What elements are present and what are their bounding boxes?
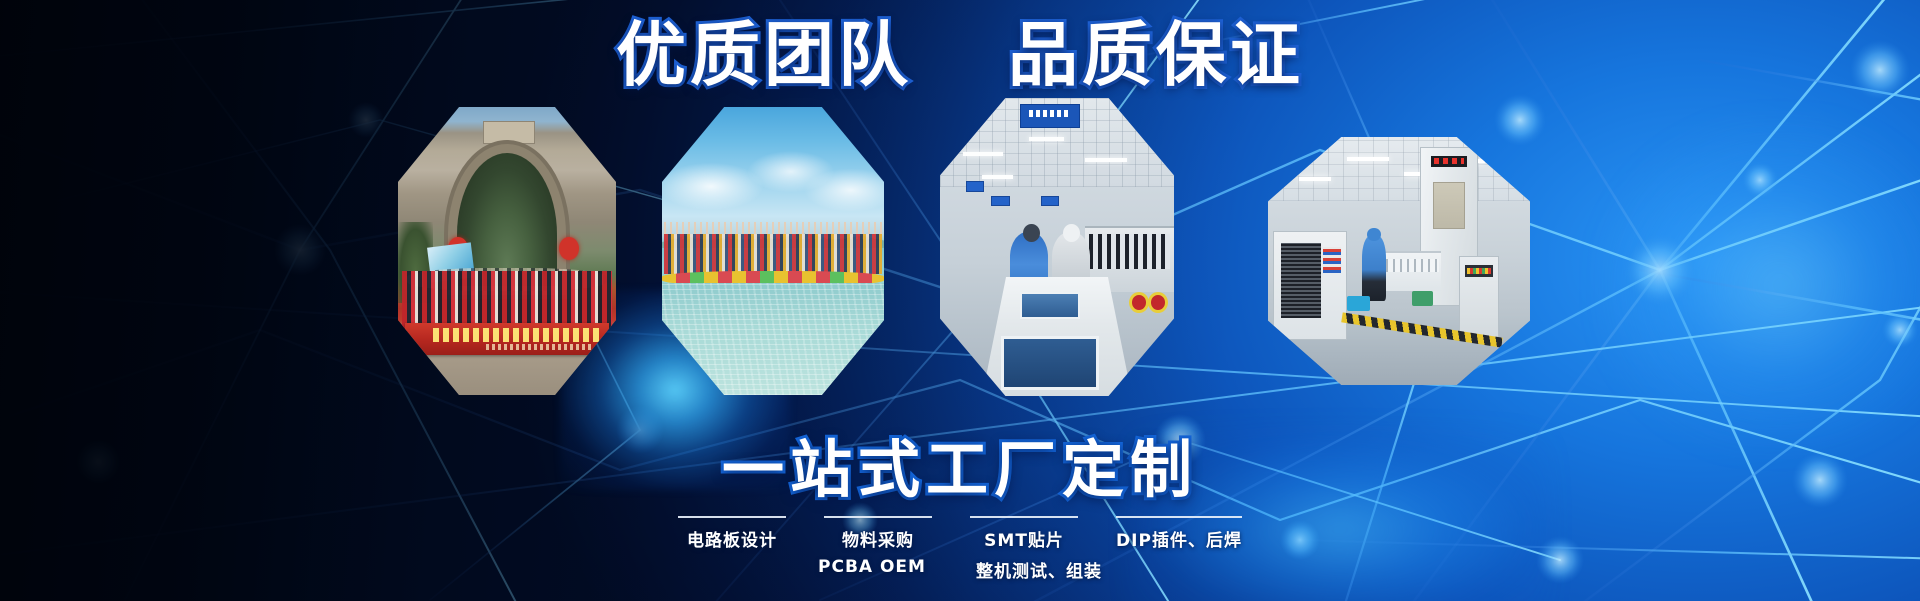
ceiling-lamp — [963, 152, 1003, 156]
workshop-equipment-photo — [1268, 137, 1530, 385]
service-item-dip: DIP插件、后焊 — [1108, 516, 1250, 551]
cabinet-display — [1431, 156, 1467, 167]
breaker-panel — [1323, 247, 1342, 273]
kayakers-row — [664, 234, 882, 274]
service-label: DIP插件、后焊 — [1116, 526, 1242, 551]
red-banner — [405, 323, 610, 355]
team-outing-photo — [398, 107, 616, 395]
emergency-stop-button — [1132, 295, 1146, 310]
ground — [398, 355, 616, 395]
service-row-1: 电路板设计 物料采购 SMT贴片 DIP插件、后焊 — [670, 516, 1250, 551]
service-item-assembly-test: 整机测试、组装 — [968, 555, 1110, 582]
sea-water — [662, 283, 884, 395]
divider-line — [1116, 516, 1242, 518]
banner-main-text — [433, 328, 599, 342]
divider-line — [824, 516, 932, 518]
emergency-stop-button — [1151, 295, 1165, 310]
banner-sub-text — [486, 344, 593, 350]
service-label: 电路板设计 — [687, 526, 777, 551]
station-sign — [1041, 196, 1060, 206]
service-list: 电路板设计 物料采购 SMT贴片 DIP插件、后焊 PCBA OEM 整机测试、… — [0, 516, 1920, 582]
ceiling-lamp — [1029, 137, 1064, 141]
service-label: PCBA OEM — [818, 557, 926, 577]
main-headline: 一站式工厂定制 — [722, 437, 1198, 502]
work-bench — [1383, 251, 1441, 291]
service-label: 物料采购 — [842, 526, 914, 551]
pcb-tray — [1001, 336, 1099, 390]
clouds — [662, 142, 884, 217]
equipment-rack-left — [1273, 231, 1346, 340]
main-headline-wrap: 一站式工厂定制 — [0, 437, 1920, 502]
control-cabinet — [1459, 256, 1498, 340]
blue-bin — [1347, 296, 1371, 311]
gate-plaque — [483, 121, 535, 144]
service-row-2: PCBA OEM 整机测试、组装 — [810, 555, 1110, 582]
station-sign-pingyiji — [1020, 104, 1081, 128]
service-label: 整机测试、组装 — [976, 557, 1102, 582]
ceiling-lamp — [1085, 158, 1127, 162]
rack-grill — [1281, 243, 1321, 318]
control-panel — [1465, 265, 1493, 277]
service-item-material-purchase: 物料采购 — [816, 516, 940, 551]
cabinet-door — [1433, 182, 1465, 229]
service-label: SMT贴片 — [984, 526, 1064, 551]
ceiling-lamp — [1299, 177, 1330, 181]
station-sign — [991, 196, 1010, 206]
divider-line — [970, 516, 1078, 518]
headline-quality-assurance: 品质保证 — [1008, 18, 1304, 94]
ceiling-grid — [1268, 137, 1530, 201]
top-headline-row: 优质团队 品质保证 — [0, 18, 1920, 94]
station-sign — [966, 181, 985, 191]
headline-quality-team: 优质团队 — [616, 18, 912, 94]
inspection-screen — [1020, 292, 1081, 319]
service-item-pcb-design: 电路板设计 — [670, 516, 794, 551]
ceiling-lamp — [1347, 157, 1389, 161]
smt-production-line-photo — [940, 98, 1174, 396]
worker-operator — [1362, 236, 1386, 300]
kayaking-team-photo — [662, 107, 884, 395]
ceiling-lamp — [982, 175, 1012, 179]
green-crate — [1412, 291, 1433, 306]
service-item-pcba-oem: PCBA OEM — [810, 555, 934, 577]
promo-banner: 优质团队 品质保证 一站式工厂定制 电路板设计 物料采购 SMT贴片 DIP插件… — [0, 0, 1920, 601]
divider-line — [678, 516, 786, 518]
red-lantern-right — [559, 237, 579, 260]
service-item-smt: SMT贴片 — [962, 516, 1086, 551]
